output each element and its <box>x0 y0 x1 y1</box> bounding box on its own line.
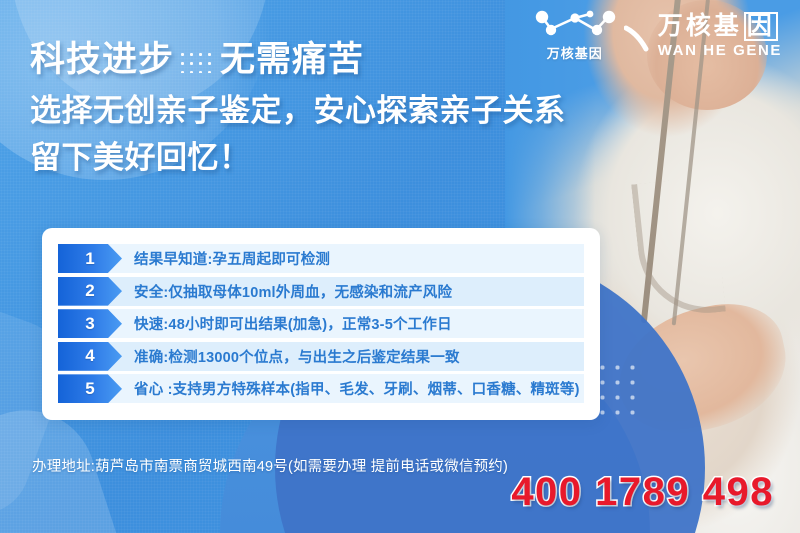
feature-text: 快速:48小时即可出结果(加急)，正常3-5个工作日 <box>134 313 452 334</box>
hotline-phone-number[interactable]: 400 1789 498 <box>511 470 774 515</box>
logo-mark: 万核基因 <box>532 8 618 62</box>
feature-text: 准确:检测13000个位点，与出生之后鉴定结果一致 <box>134 346 460 367</box>
list-item[interactable]: 4 准确:检测13000个位点，与出生之后鉴定结果一致 <box>58 342 600 371</box>
headline-line-1: 科技进步 无需痛苦 <box>30 42 566 77</box>
swish-icon <box>624 18 650 52</box>
headline-block: 科技进步 无需痛苦 选择无创亲子鉴定，安心探索亲子关系 留下美好回忆！ <box>30 42 566 173</box>
molecule-icon <box>532 8 618 42</box>
dot-grid-separator-icon <box>176 47 216 73</box>
headline-line-1-b: 无需痛苦 <box>220 42 364 77</box>
list-item[interactable]: 5 省心 :支持男方特殊样本(指甲、毛发、牙刷、烟蒂、口香糖、精斑等) <box>58 374 600 403</box>
list-item[interactable]: 2 安全:仅抽取母体10ml外周血，无感染和流产风险 <box>58 277 600 306</box>
list-item[interactable]: 3 快速:48小时即可出结果(加急)，正常3-5个工作日 <box>58 309 600 338</box>
logo-name-en: WAN HE GENE <box>658 42 782 59</box>
logo-name-cn-main: 万核基 <box>658 13 742 40</box>
headline-line-1-a: 科技进步 <box>30 42 174 77</box>
headline-line-3: 留下美好回忆！ <box>30 142 566 173</box>
list-item[interactable]: 1 结果早知道:孕五周起即可检测 <box>58 244 600 273</box>
features-list: 1 结果早知道:孕五周起即可检测 2 安全:仅抽取母体10ml外周血，无感染和流… <box>58 244 600 407</box>
office-address: 办理地址:葫芦岛市南票商贸城西南49号(如需要办理 提前电话或微信预约) <box>32 455 508 476</box>
logo-name-cn: 万核基 因 <box>658 12 778 41</box>
feature-text: 结果早知道:孕五周起即可检测 <box>134 248 330 269</box>
poster-root: 万核基因 万核基 因 WAN HE GENE 科技进步 无需痛苦 选择无创亲子鉴… <box>0 0 800 533</box>
logo-wordmark: 万核基 因 WAN HE GENE <box>658 12 782 59</box>
brand-logo[interactable]: 万核基因 万核基 因 WAN HE GENE <box>532 8 782 62</box>
logo-name-cn-boxed: 因 <box>744 12 778 41</box>
features-card: 1 结果早知道:孕五周起即可检测 2 安全:仅抽取母体10ml外周血，无感染和流… <box>42 228 600 420</box>
feature-text: 安全:仅抽取母体10ml外周血，无感染和流产风险 <box>134 281 452 302</box>
headline-line-2: 选择无创亲子鉴定，安心探索亲子关系 <box>30 95 566 126</box>
logo-mark-label: 万核基因 <box>547 43 603 62</box>
feature-text: 省心 :支持男方特殊样本(指甲、毛发、牙刷、烟蒂、口香糖、精斑等) <box>134 378 580 399</box>
